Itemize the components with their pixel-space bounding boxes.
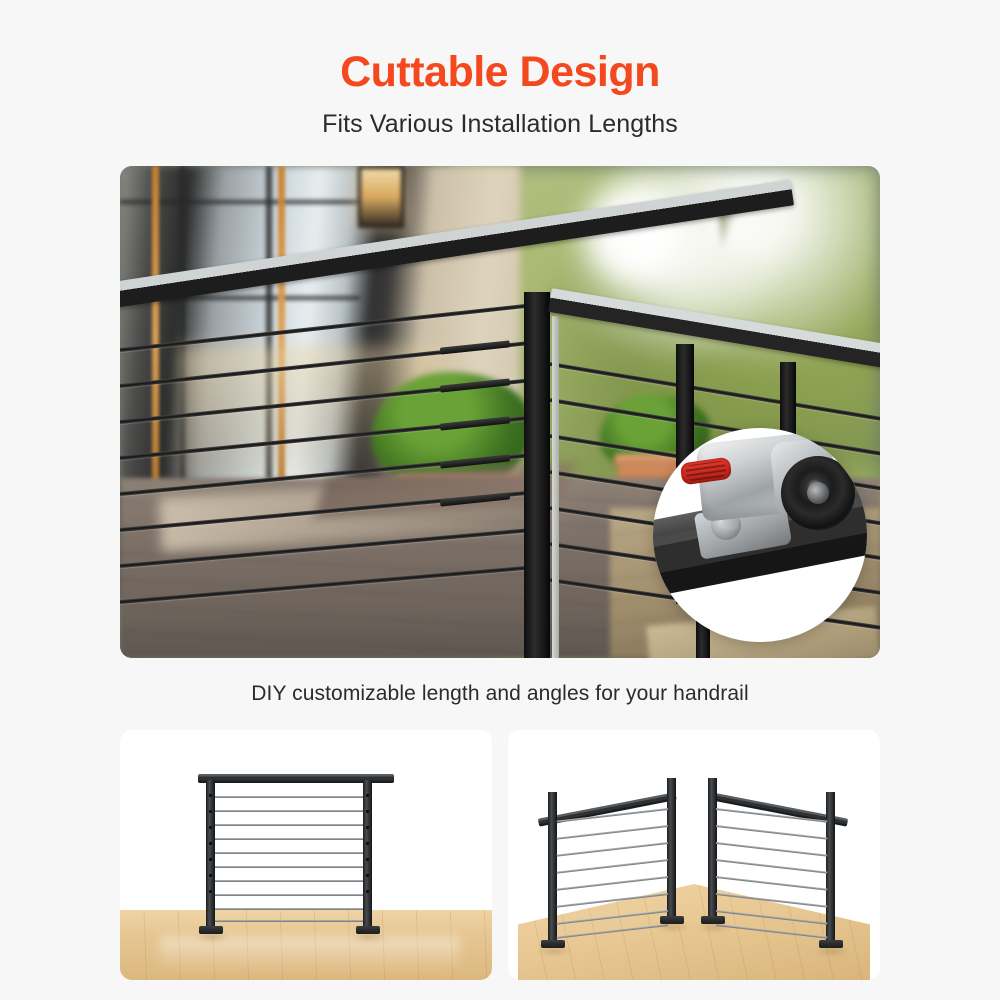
railing-cable (215, 838, 363, 840)
straight-railing-panel (120, 730, 492, 980)
railing-cable (716, 825, 828, 840)
post-hole (209, 890, 212, 893)
post-hole (366, 826, 369, 829)
post-shadow (194, 932, 230, 942)
mid-caption: DIY customizable length and angles for y… (0, 682, 1000, 706)
post-shadow (351, 932, 387, 942)
railing-post (826, 792, 835, 942)
post-hole (209, 858, 212, 861)
post-hole (366, 810, 369, 813)
post-hole (209, 810, 212, 813)
railing-post (548, 792, 557, 942)
railing-cable (215, 866, 363, 868)
railing-post (667, 778, 676, 918)
page-title: Cuttable Design (0, 48, 1000, 97)
post-shadow (814, 946, 850, 956)
post-silver-edge (552, 316, 559, 658)
post-hole (366, 890, 369, 893)
railing-cable (716, 859, 828, 874)
railing-cable (716, 842, 828, 857)
railing-post (363, 780, 372, 928)
post-hole (366, 874, 369, 877)
railing-cable (215, 920, 363, 922)
railing-cable (557, 825, 669, 840)
railing-cable (215, 880, 363, 882)
railing-cable (215, 796, 363, 798)
corner-post (524, 292, 550, 658)
post-shadow (655, 922, 691, 932)
post-hole (209, 842, 212, 845)
hero-photo (120, 166, 880, 658)
railing-cable (215, 824, 363, 826)
post-hole (209, 794, 212, 797)
railing-post (206, 780, 215, 928)
saw-blade-hub (807, 482, 829, 504)
railing-cable (215, 810, 363, 812)
corner-railing-panel (508, 730, 880, 980)
railing-cable (557, 859, 669, 874)
railing-cable (557, 876, 669, 891)
post-hole (366, 858, 369, 861)
saw-handle-grip-lines (685, 460, 727, 481)
railing-cable (215, 908, 363, 910)
post-hole (366, 842, 369, 845)
marketing-feature-page: Cuttable Design Fits Various Installatio… (0, 0, 1000, 1000)
railing-cable (716, 876, 828, 891)
post-hole (209, 874, 212, 877)
railing-cable (557, 842, 669, 857)
post-hole (366, 794, 369, 797)
railing-post (708, 778, 717, 918)
wood-floor-corner (518, 884, 870, 980)
page-subtitle: Fits Various Installation Lengths (0, 110, 1000, 139)
miter-saw-inset-circle (653, 428, 867, 642)
post-shadow (536, 946, 572, 956)
railing-cable (215, 894, 363, 896)
post-shadow (696, 922, 732, 932)
post-hole (209, 826, 212, 829)
railing-cable (215, 852, 363, 854)
